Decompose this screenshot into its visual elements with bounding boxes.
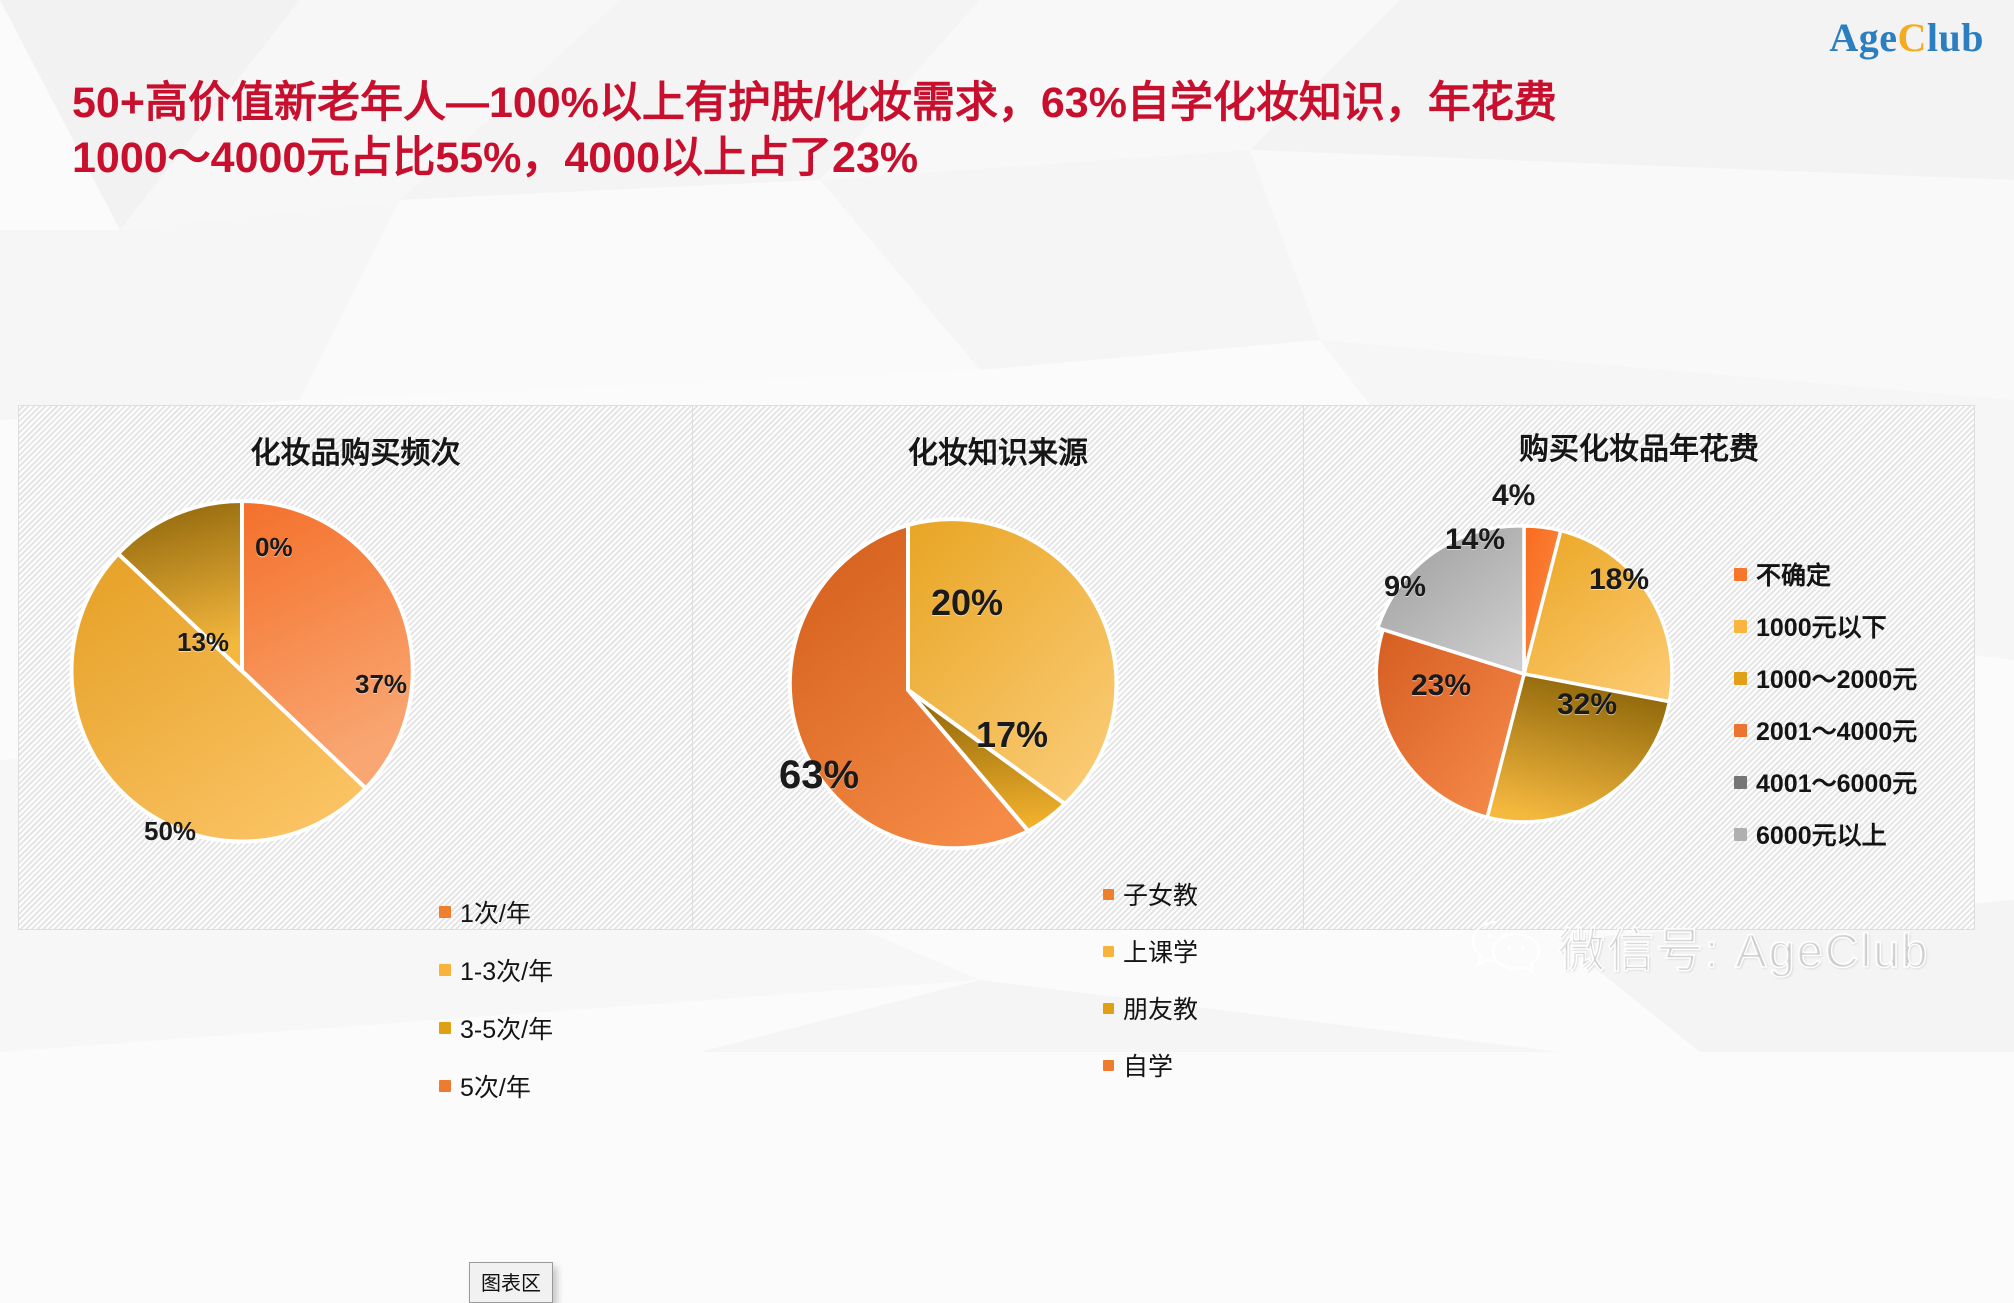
legend-item-5ci[interactable]: 5次/年 [439, 1068, 553, 1104]
legend-item-buqueding[interactable]: 不确定 [1734, 556, 1917, 592]
legend-swatch-icon [1734, 828, 1747, 841]
pie-chart-1 [97, 501, 387, 841]
wechat-watermark: 微信号: AgeClub [1470, 912, 1929, 981]
legend-item-zixue[interactable]: 自学 [1103, 1047, 1198, 1083]
chart-1-legend: 1次/年 1-3次/年 3-5次/年 5次/年 [439, 894, 553, 1104]
chart-3-title: 购买化妆品年花费 [1304, 424, 1974, 468]
chart-1-title: 化妆品购买频次 [19, 428, 692, 472]
chart-panel-purchase-frequency: 化妆品购买频次 [18, 405, 693, 930]
legend-swatch-icon [439, 1080, 451, 1092]
chart-area-tooltip: 图表区 [469, 1262, 553, 1303]
legend-label: 子女教 [1123, 876, 1198, 912]
legend-swatch-icon [1734, 724, 1747, 737]
legend-label: 6000元以上 [1756, 816, 1887, 852]
pie-1-label-13pct: 13% [177, 627, 229, 658]
legend-label: 3-5次/年 [460, 1010, 553, 1046]
legend-label: 1-3次/年 [460, 952, 553, 988]
legend-item-over-6000[interactable]: 6000元以上 [1734, 816, 1917, 852]
legend-label: 1000～2000元 [1756, 660, 1917, 696]
title-line-1: 50+高价值新老年人—100%以上有护肤/化妆需求，63%自学化妆知识，年花费 [72, 79, 1557, 127]
legend-item-pengyoujiao[interactable]: 朋友教 [1103, 990, 1198, 1026]
legend-swatch-icon [1103, 946, 1114, 957]
logo-highlight: C [1898, 15, 1927, 60]
legend-label: 4001～6000元 [1756, 764, 1917, 800]
legend-label: 朋友教 [1123, 990, 1198, 1026]
legend-item-4001-6000[interactable]: 4001～6000元 [1734, 764, 1917, 800]
legend-label: 2001～4000元 [1756, 712, 1917, 748]
legend-swatch-icon [1103, 1003, 1114, 1014]
legend-label: 自学 [1123, 1047, 1173, 1083]
ageclub-logo: AgeClub [1829, 14, 1984, 61]
legend-label: 1000元以下 [1756, 608, 1887, 644]
legend-item-zinvjiao[interactable]: 子女教 [1103, 876, 1198, 912]
pie-3-label-4pct: 4% [1492, 479, 1535, 513]
legend-item-1cipernian[interactable]: 1次/年 [439, 894, 553, 930]
legend-item-2001-4000[interactable]: 2001～4000元 [1734, 712, 1917, 748]
legend-item-shangkexue[interactable]: 上课学 [1103, 933, 1198, 969]
pie-2-label-63pct: 63% [779, 753, 859, 798]
pie-2-label-20pct: 20% [931, 582, 1003, 624]
chart-panel-annual-spend: 购买化妆品年花费 [1303, 405, 1975, 930]
pie-1-label-50pct: 50% [144, 816, 196, 847]
legend-label: 1次/年 [460, 894, 531, 930]
logo-suffix: lub [1927, 15, 1984, 60]
watermark-text: 微信号: AgeClub [1558, 912, 1929, 981]
pie-3-label-23pct: 23% [1411, 669, 1471, 703]
logo-prefix: Age [1829, 15, 1897, 60]
pie-2-label-17pct: 17% [976, 714, 1048, 756]
legend-item-1000-2000[interactable]: 1000～2000元 [1734, 660, 1917, 696]
page-title: 50+高价值新老年人—100%以上有护肤/化妆需求，63%自学化妆知识，年花费 … [72, 76, 1942, 186]
pie-chart-2 [728, 510, 1088, 870]
legend-item-under-1000[interactable]: 1000元以下 [1734, 608, 1917, 644]
pie-3-label-9pct: 9% [1384, 571, 1426, 604]
pie-1-label-0pct: 0% [255, 532, 293, 563]
pie-3-label-18pct: 18% [1589, 563, 1649, 597]
legend-swatch-icon [1734, 672, 1747, 685]
legend-swatch-icon [1734, 568, 1747, 581]
legend-label: 上课学 [1123, 933, 1198, 969]
legend-swatch-icon [1103, 1060, 1114, 1071]
pie-3-label-32pct: 32% [1557, 688, 1617, 722]
legend-item-3-5ci[interactable]: 3-5次/年 [439, 1010, 553, 1046]
legend-swatch-icon [439, 906, 451, 918]
legend-swatch-icon [439, 1022, 451, 1034]
chart-panel-knowledge-source: 化妆知识来源 [692, 405, 1304, 930]
legend-swatch-icon [439, 964, 451, 976]
legend-label: 不确定 [1756, 556, 1831, 592]
legend-swatch-icon [1103, 889, 1114, 900]
legend-item-1-3ci[interactable]: 1-3次/年 [439, 952, 553, 988]
legend-swatch-icon [1734, 620, 1747, 633]
legend-swatch-icon [1734, 776, 1747, 789]
title-line-2: 1000～4000元占比55%，4000以上占了23% [72, 131, 1942, 186]
chart-2-title: 化妆知识来源 [693, 428, 1303, 472]
charts-container: 化妆品购买频次 [18, 405, 1976, 930]
wechat-icon [1470, 919, 1542, 975]
legend-label: 5次/年 [460, 1068, 531, 1104]
pie-3-label-14pct: 14% [1445, 523, 1505, 557]
chart-3-legend: 不确定 1000元以下 1000～2000元 2001～4000元 4001～6… [1734, 556, 1917, 852]
pie-1-label-37pct: 37% [355, 669, 407, 700]
